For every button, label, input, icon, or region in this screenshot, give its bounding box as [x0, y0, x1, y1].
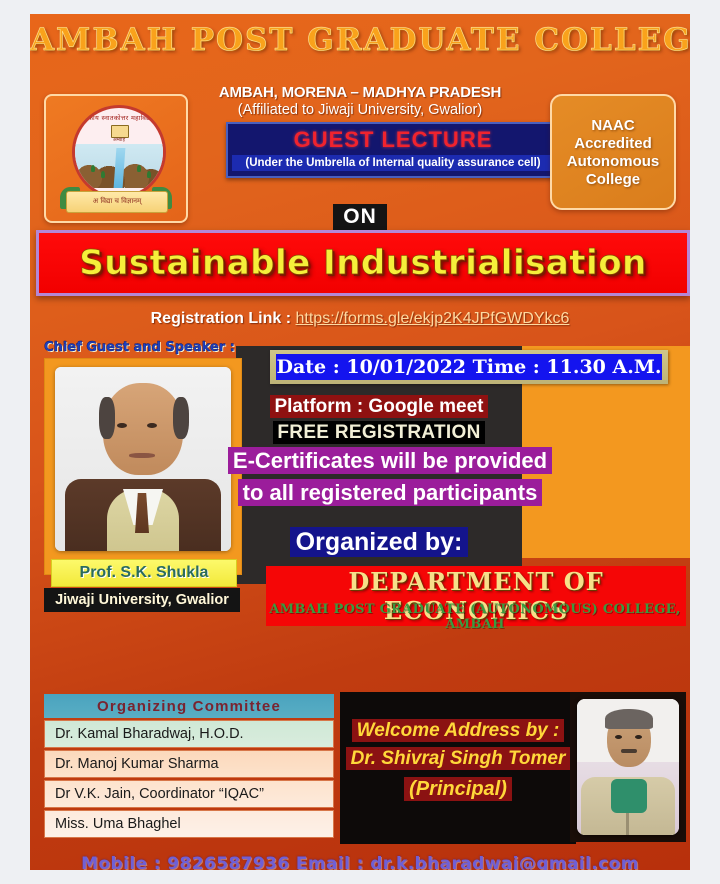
on-label: ON	[333, 204, 387, 230]
naac-badge: NAAC Accredited Autonomous College	[550, 94, 676, 210]
platform-text: Platform : Google meet	[270, 395, 487, 418]
poster-canvas: AMBAH POST GRADUATE COLLEGE AMBAH, MOREN…	[30, 14, 690, 870]
photo-mouth	[129, 453, 155, 458]
ecertificate-row-1: E-Certificates will be provided	[220, 448, 560, 474]
chief-guest-name: Prof. S.K. Shukla	[51, 559, 237, 587]
tree-icon	[147, 171, 151, 178]
free-registration-row: FREE REGISTRATION	[236, 422, 522, 444]
principal-photo	[577, 699, 679, 835]
chief-guest-photo	[55, 367, 231, 551]
emblem-motto-ribbon: अ विद्या च विज्ञानम्	[66, 191, 168, 213]
welcome-line-3: (Principal)	[404, 777, 512, 801]
list-item: Dr V.K. Jain, Coordinator “IQAC”	[44, 780, 334, 808]
principal-photo-card	[570, 692, 686, 842]
tree-icon	[101, 171, 105, 178]
welcome-line-1-row: Welcome Address by :	[340, 720, 576, 742]
ecertificate-row-2: to all registered participants	[220, 480, 560, 506]
guest-lecture-title: GUEST LECTURE	[228, 127, 558, 153]
ecertificate-line-1: E-Certificates will be provided	[228, 447, 552, 474]
registration-link[interactable]: https://forms.gle/ekjp2K4JPfGWDYkc6	[296, 310, 570, 327]
tree-icon	[137, 165, 141, 172]
welcome-line-1: Welcome Address by :	[352, 719, 565, 742]
ecertificate-line-2: to all registered participants	[238, 479, 543, 506]
free-registration-text: FREE REGISTRATION	[273, 421, 484, 444]
photo-eye-right	[147, 423, 157, 428]
organizing-committee-heading: Organizing Committee	[44, 694, 334, 718]
emblem-book-text: अम्बाह	[103, 137, 135, 143]
college-logo: शासकीय स्नातकोत्तर महाविद्यालय अम्बाह अ …	[44, 94, 188, 223]
registration-label: Registration Link :	[151, 310, 291, 327]
topic-title: Sustainable Industrialisation	[79, 243, 647, 283]
principal-eye-right	[635, 735, 642, 739]
registration-row: Registration Link : https://forms.gle/ek…	[30, 310, 690, 328]
naac-line-2: Accredited	[574, 135, 652, 152]
tree-icon	[91, 165, 95, 172]
institution-name: AMBAH POST GRADUATE (AUTONOMOUS) COLLEGE…	[260, 602, 690, 632]
welcome-line-3-row: (Principal)	[340, 778, 576, 801]
contact-footer: Mobile : 9826587936 Email : dr.k.bharadw…	[30, 854, 690, 870]
welcome-address-panel: Welcome Address by : Dr. Shivraj Singh T…	[340, 692, 576, 844]
list-item: Miss. Uma Bhaghel	[44, 810, 334, 838]
principal-hair	[605, 709, 653, 729]
date-time-text: Date : 10/01/2022 Time : 11.30 A.M.	[276, 354, 662, 380]
naac-line-1: NAAC	[591, 117, 634, 134]
welcome-line-2: Dr. Shivraj Singh Tomer	[346, 747, 571, 770]
list-item: Dr. Manoj Kumar Sharma	[44, 750, 334, 778]
platform-row: Platform : Google meet	[236, 396, 522, 418]
welcome-line-2-row: Dr. Shivraj Singh Tomer	[340, 748, 576, 770]
principal-eye-left	[615, 735, 622, 739]
chief-guest-card: Prof. S.K. Shukla	[44, 358, 242, 575]
principal-shirt	[611, 779, 647, 813]
organized-by-label: Organized by:	[290, 527, 469, 557]
naac-line-4: College	[586, 171, 640, 188]
naac-line-3: Autonomous	[567, 153, 659, 170]
college-emblem-icon: शासकीय स्नातकोत्तर महाविद्यालय अम्बाह अ …	[60, 103, 172, 215]
principal-moustache	[621, 749, 637, 753]
list-item: Dr. Kamal Bharadwaj, H.O.D.	[44, 720, 334, 748]
photo-hair-right	[173, 397, 189, 439]
date-time-bar: Date : 10/01/2022 Time : 11.30 A.M.	[270, 350, 668, 384]
emblem-arc-text: शासकीय स्नातकोत्तर महाविद्यालय	[75, 113, 163, 122]
organized-by-row: Organized by:	[236, 528, 522, 557]
photo-head	[103, 383, 183, 475]
emblem-disc: शासकीय स्नातकोत्तर महाविद्यालय अम्बाह	[72, 105, 166, 199]
guest-lecture-box: GUEST LECTURE (Under the Umbrella of Int…	[226, 122, 560, 178]
chief-guest-affiliation: Jiwaji University, Gwalior	[44, 588, 240, 612]
photo-eye-left	[117, 423, 127, 428]
guest-lecture-subtitle: (Under the Umbrella of Internal quality …	[232, 155, 554, 171]
topic-banner: Sustainable Industrialisation	[36, 230, 690, 296]
chief-guest-label: Chief Guest and Speaker :	[44, 340, 240, 355]
photo-hair-left	[99, 397, 115, 439]
page-title: AMBAH POST GRADUATE COLLEGE	[30, 22, 690, 58]
